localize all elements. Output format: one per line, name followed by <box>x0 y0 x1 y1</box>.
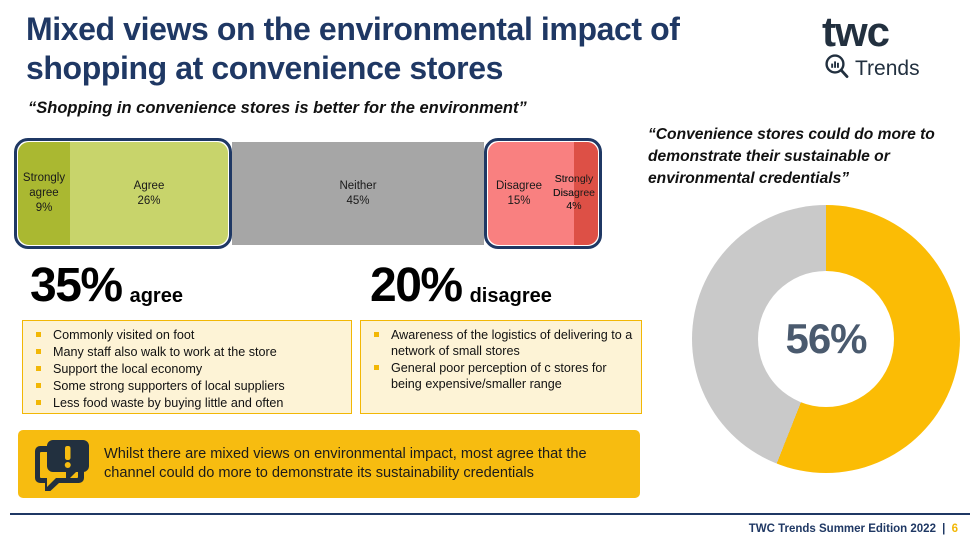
segment-label: Neither <box>339 179 376 194</box>
donut-chart: 56% <box>692 205 960 473</box>
bar-segment-strongly-agree: Strongly agree 9% <box>18 142 70 245</box>
likert-stacked-bar-chart: Strongly agree 9% Agree 26% Neither 45% … <box>18 142 598 245</box>
segment-value: 15% <box>507 194 530 209</box>
bar-segment-disagree: Disagree 15% <box>488 142 550 245</box>
donut-center-value: 56% <box>785 315 866 363</box>
stat-disagree: 20% disagree <box>370 262 552 310</box>
segment-value: 9% <box>36 201 53 216</box>
list-item: Awareness of the logistics of delivering… <box>367 327 633 359</box>
list-item: Support the local economy <box>29 361 343 377</box>
summary-callout: Whilst there are mixed views on environm… <box>18 430 640 498</box>
logo-subtext: Trends <box>855 58 920 79</box>
list-item: Many staff also walk to work at the stor… <box>29 344 343 360</box>
stat-disagree-number: 20% <box>370 262 462 310</box>
bullets-agree-box: Commonly visited on foot Many staff also… <box>22 320 352 414</box>
stat-agree: 35% agree <box>30 262 183 310</box>
segment-label: Agree <box>134 179 165 194</box>
stat-agree-number: 35% <box>30 262 122 310</box>
callout-text: Whilst there are mixed views on environm… <box>104 445 640 484</box>
footer: TWC Trends Summer Edition 2022 | 6 <box>749 523 958 535</box>
bar-segment-neither: Neither 45% <box>232 142 484 245</box>
bullets-disagree-box: Awareness of the logistics of delivering… <box>360 320 642 414</box>
list-item: Commonly visited on foot <box>29 327 343 343</box>
magnifier-bar-chart-icon <box>824 53 850 84</box>
segment-label: Strongly Disagree <box>553 173 595 200</box>
footer-divider <box>10 513 970 515</box>
bar-segment-strongly-disagree-text: Strongly Disagree 4% <box>550 142 598 245</box>
segment-value: 4% <box>566 200 581 213</box>
footer-page-number: 6 <box>952 523 958 535</box>
donut-center: 56% <box>758 271 894 407</box>
speech-bubble-exclamation-icon <box>18 437 104 491</box>
brand-logo: twc Trends <box>816 12 966 90</box>
logo-wordmark: twc <box>816 12 966 52</box>
footer-separator: | <box>939 523 948 535</box>
stat-disagree-label: disagree <box>470 286 552 310</box>
statement-quote: “Shopping in convenience stores is bette… <box>28 99 527 118</box>
stat-agree-label: agree <box>130 286 183 310</box>
segment-label: Disagree <box>496 179 542 194</box>
footer-edition: TWC Trends Summer Edition 2022 <box>749 523 936 535</box>
bar-segment-agree: Agree 26% <box>70 142 228 245</box>
list-item: General poor perception of c stores for … <box>367 360 633 392</box>
donut-quote: “Convenience stores could do more to dem… <box>648 124 974 190</box>
list-item: Some strong supporters of local supplier… <box>29 378 343 394</box>
segment-value: 45% <box>346 194 369 209</box>
segment-label: Strongly agree <box>23 171 65 200</box>
segment-value: 26% <box>137 194 160 209</box>
page-title: Mixed views on the environmental impact … <box>26 10 826 88</box>
list-item: Less food waste by buying little and oft… <box>29 395 343 411</box>
